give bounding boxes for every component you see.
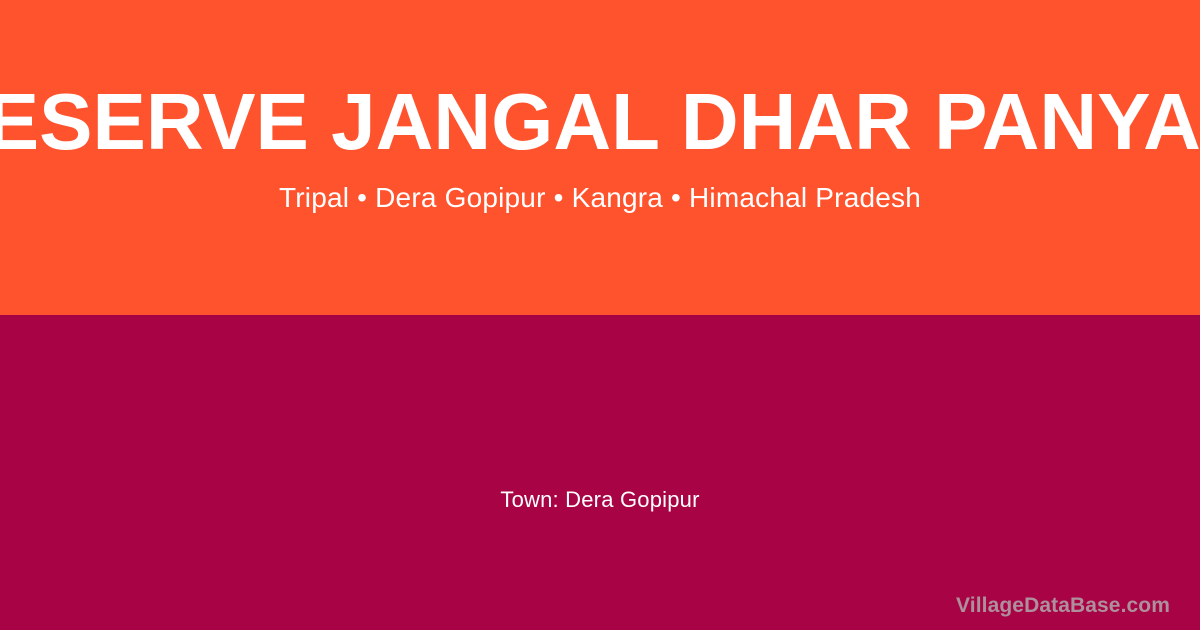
site-watermark: VillageDataBase.com bbox=[956, 594, 1170, 618]
page-title-wrapper: RESERVE JANGAL DHAR PANYALI bbox=[0, 82, 1200, 162]
social-card: RESERVE JANGAL DHAR PANYALI Tripal • Der… bbox=[0, 0, 1200, 630]
page-title: RESERVE JANGAL DHAR PANYALI bbox=[0, 82, 1200, 162]
location-breadcrumb: Tripal • Dera Gopipur • Kangra • Himacha… bbox=[0, 182, 1200, 214]
details-band: Town: Dera Gopipur VillageDataBase.com bbox=[0, 315, 1200, 630]
header-band: RESERVE JANGAL DHAR PANYALI Tripal • Der… bbox=[0, 0, 1200, 315]
town-detail: Town: Dera Gopipur bbox=[0, 487, 1200, 513]
